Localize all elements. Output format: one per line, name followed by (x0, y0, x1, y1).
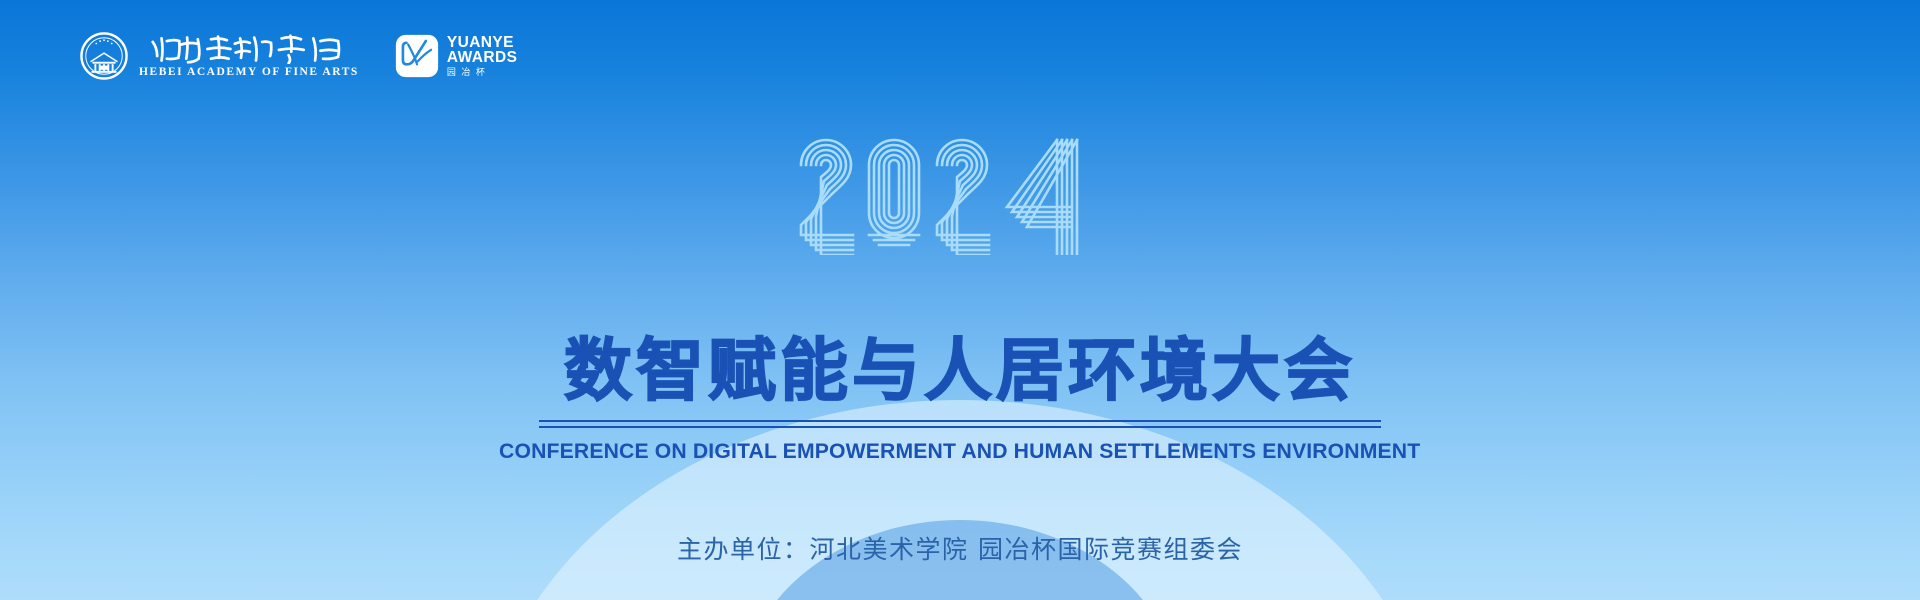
yuanye-line-2: AWARDS (447, 50, 517, 66)
hebei-academy-wordmark: HEBEI ACADEMY OF FINE ARTS (139, 34, 359, 79)
year-2024-graphic (795, 131, 1125, 255)
title-block: 数智赋能与人居环境大会 CONFERENCE ON DIGITAL EMPOWE… (0, 338, 1920, 464)
yuanye-name-cn: 园冶杯 (447, 68, 517, 77)
yuanye-line-1: YUANYE (447, 35, 517, 51)
divider-line-top (539, 420, 1381, 422)
logo-row: HEBEI ACADEMY OF FINE ARTS YUANYE AWARDS… (80, 25, 517, 87)
divider-line-bottom (539, 426, 1381, 428)
hebei-academy-name-en: HEBEI ACADEMY OF FINE ARTS (139, 67, 359, 79)
hebei-academy-logo[interactable]: HEBEI ACADEMY OF FINE ARTS (80, 32, 359, 80)
year-hero (0, 128, 1920, 258)
organizer-line: 主办单位：河北美术学院 园冶杯国际竞赛组委会 (0, 530, 1920, 566)
conference-title-cn: 数智赋能与人居环境大会 (564, 338, 1356, 406)
academy-seal-icon (80, 32, 128, 80)
conference-banner: HEBEI ACADEMY OF FINE ARTS YUANYE AWARDS… (0, 0, 1920, 600)
title-divider (539, 420, 1381, 428)
yuanye-awards-wordmark: YUANYE AWARDS 园冶杯 (447, 35, 517, 78)
hebei-academy-name-cn-icon (139, 34, 359, 64)
conference-title-en: CONFERENCE ON DIGITAL EMPOWERMENT AND HU… (499, 439, 1420, 464)
yuanye-awards-logo[interactable]: YUANYE AWARDS 园冶杯 (395, 34, 517, 78)
yuanye-mark-icon (395, 34, 439, 78)
